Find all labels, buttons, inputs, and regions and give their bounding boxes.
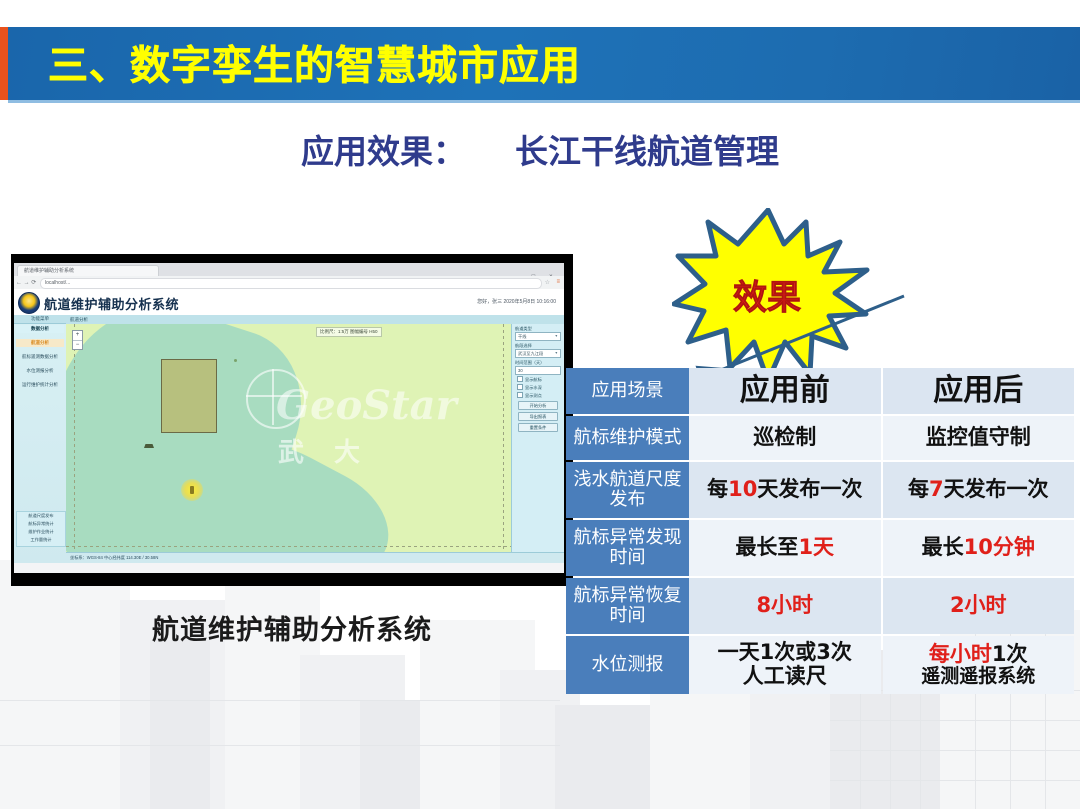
- url-text: localhost/...: [45, 279, 70, 288]
- row-before-4-seg3: 3: [816, 640, 831, 664]
- form-select-segment[interactable]: 武汉至九江段: [515, 349, 561, 358]
- sidebar-subpanel: 航道尺度发布 航标异常统计 维护作业统计 工作量统计: [16, 511, 66, 547]
- row-before-4-line1: 一天1次或3次: [718, 641, 852, 665]
- map-scale-info: 比例尺：1:5万 图幅编号 H50: [316, 327, 382, 337]
- map-canvas[interactable]: GeoStar 武大 比例尺：1:5万 图幅编号 H50 + −: [66, 324, 512, 553]
- app-body: 功能菜单 数据分析 航道分析 航标遥测数据分析 水位测报分析 运行维护统计分析 …: [14, 315, 564, 563]
- row-after-1-seg0: 每: [908, 478, 929, 502]
- subtitle-topic: 长江干线航道管理: [515, 132, 779, 171]
- row-after-4-line2: 遥测遥报系统: [921, 666, 1035, 687]
- row-after-2-seg0: 最长: [922, 536, 964, 560]
- table-header-row: 应用场景 应用前 应用后: [566, 368, 1074, 414]
- form-input-days[interactable]: 30: [515, 366, 561, 375]
- row-before-4-line2: 人工读尺: [718, 665, 852, 689]
- app-logo-icon: [18, 292, 40, 314]
- page-title: 三、数字孪生的智慧城市应用: [48, 33, 581, 91]
- application-screenshot: 航道维护辅助分析系统 – □ × ← → ⟳ localhost/... ☆ ≡…: [12, 255, 572, 585]
- table-row: 航标异常恢复时间 8小时 2小时: [566, 578, 1074, 634]
- table-header-before: 应用前: [689, 368, 881, 414]
- map-graticule-bottom: [66, 546, 512, 547]
- form-check-2[interactable]: 显示测点: [517, 392, 564, 399]
- row-before-4-seg4: 次: [831, 640, 852, 664]
- browser-window: 航道维护辅助分析系统 – □ × ← → ⟳ localhost/... ☆ ≡…: [14, 263, 564, 573]
- row-before-2-seg1: 1天: [798, 536, 834, 560]
- form-button-reset[interactable]: 重置条件: [518, 423, 558, 432]
- form-check-1[interactable]: 显示水深: [517, 384, 564, 391]
- form-button-analyze[interactable]: 开始分析: [518, 401, 558, 410]
- form-select-channel-type[interactable]: 干线: [515, 332, 561, 341]
- map-zoom-control[interactable]: + −: [72, 330, 83, 350]
- row-after-4: 每小时1次 遥测遥报系统: [883, 636, 1075, 694]
- row-after-1-seg1: 7: [929, 478, 944, 502]
- sidebar-item-4[interactable]: 运行维护统计分析: [16, 381, 64, 389]
- map-tab-label[interactable]: 航道分析: [70, 315, 88, 324]
- app-sidebar: 功能菜单 数据分析 航道分析 航标遥测数据分析 水位测报分析 运行维护统计分析 …: [14, 315, 67, 563]
- sidebar-sub-1[interactable]: 航标异常统计: [17, 520, 65, 528]
- app-user-info: 您好，张三 2020年5月8日 10:16:00: [477, 298, 556, 305]
- row-label-0: 航标维护模式: [566, 416, 689, 460]
- form-check-label-0: 显示航标: [525, 377, 542, 382]
- row-after-2: 最长10分钟: [883, 520, 1075, 576]
- subtitle: 应用效果： 长江干线航道管理: [0, 125, 1080, 173]
- map-point-feature: [234, 359, 237, 362]
- checkbox-icon-1[interactable]: [517, 384, 523, 390]
- map-graticule-right: [503, 324, 504, 553]
- form-check-label-1: 显示水深: [525, 385, 542, 390]
- map-graticule-left: [74, 324, 75, 553]
- row-after-2-seg1: 10分钟: [964, 536, 1035, 560]
- row-after-3: 2小时: [883, 578, 1075, 634]
- geostar-globe-watermark-icon: [246, 369, 306, 429]
- row-label-3: 航标异常恢复时间: [566, 578, 689, 634]
- row-before-1: 每10天发布一次: [689, 462, 881, 518]
- row-after-0-seg0: 监控值守制: [926, 426, 1031, 450]
- app-banner: 航道维护辅助分析系统 您好，张三 2020年5月8日 10:16:00: [14, 289, 564, 316]
- browser-url-bar: ← → ⟳ localhost/... ☆ ≡: [14, 276, 564, 290]
- sidebar-item-2[interactable]: 航标遥测数据分析: [16, 353, 64, 361]
- row-before-4-seg0: 一天: [718, 640, 760, 664]
- row-after-0: 监控值守制: [883, 416, 1075, 460]
- map-vessel-icon: [144, 444, 154, 448]
- row-before-4-seg1: 1: [760, 640, 775, 664]
- browser-nav-icons[interactable]: ← → ⟳: [16, 279, 36, 286]
- row-label-4: 水位测报: [566, 636, 689, 694]
- row-before-1-seg0: 每: [707, 478, 728, 502]
- sidebar-sub-3[interactable]: 工作量统计: [17, 536, 65, 544]
- window-controls: – □ ×: [508, 265, 560, 275]
- zoom-in-icon[interactable]: +: [73, 331, 82, 341]
- subtitle-prefix: 应用效果：: [301, 132, 466, 171]
- browser-tab-label: 航道维护辅助分析系统: [24, 267, 144, 274]
- app-status-bar: 坐标系：WGS-84 中心经纬度 114.30E / 30.58N: [66, 552, 564, 563]
- browser-menu-icon[interactable]: ≡: [556, 279, 560, 285]
- sidebar-header: 功能菜单: [14, 315, 66, 324]
- map-marker-highlight[interactable]: [181, 479, 203, 501]
- form-check-0[interactable]: 显示航标: [517, 376, 564, 383]
- form-check-label-2: 显示测点: [525, 393, 542, 398]
- form-button-export[interactable]: 导出报表: [518, 412, 558, 421]
- row-before-0: 巡检制: [689, 416, 881, 460]
- row-before-0-seg0: 巡检制: [753, 426, 816, 450]
- row-before-1-seg1: 10: [728, 478, 757, 502]
- checkbox-icon-0[interactable]: [517, 376, 523, 382]
- row-before-4: 一天1次或3次 人工读尺: [689, 636, 881, 694]
- row-before-3-seg0: 8小时: [756, 594, 813, 618]
- row-before-2-seg0: 最长至: [735, 536, 798, 560]
- table-header-after: 应用后: [883, 368, 1075, 414]
- sidebar-sub-2[interactable]: 维护作业统计: [17, 528, 65, 536]
- sidebar-item-0[interactable]: 数据分析: [16, 325, 64, 333]
- row-before-1-seg2: 天发布一次: [757, 478, 862, 502]
- browser-tab-bar: 航道维护辅助分析系统 – □ ×: [14, 263, 564, 277]
- table-row: 水位测报 一天1次或3次 人工读尺 每小时1次 遥测遥报系统: [566, 636, 1074, 694]
- row-before-4-seg2: 次或: [774, 640, 816, 664]
- row-label-1: 浅水航道尺度发布: [566, 462, 689, 518]
- row-after-4-seg1: 1次: [992, 642, 1028, 666]
- row-before-3: 8小时: [689, 578, 881, 634]
- zoom-out-icon[interactable]: −: [73, 341, 82, 350]
- table-row: 航标维护模式 巡检制 监控值守制: [566, 416, 1074, 460]
- sidebar-item-3[interactable]: 水位测报分析: [16, 367, 64, 375]
- table-row: 航标异常发现时间 最长至1天 最长10分钟: [566, 520, 1074, 576]
- checkbox-icon-2[interactable]: [517, 392, 523, 398]
- row-after-3-seg0: 2小时: [950, 594, 1007, 618]
- row-label-2: 航标异常发现时间: [566, 520, 689, 576]
- url-input[interactable]: localhost/...: [40, 278, 542, 289]
- header-underline: [8, 100, 1080, 103]
- bookmark-star-icon[interactable]: ☆: [545, 279, 550, 286]
- row-after-4-line1: 每小时1次: [921, 643, 1035, 667]
- row-before-2: 最长至1天: [689, 520, 881, 576]
- map-selection-rectangle[interactable]: [161, 359, 217, 433]
- table-row: 浅水航道尺度发布 每10天发布一次 每7天发布一次: [566, 462, 1074, 518]
- row-after-1-seg2: 天发布一次: [944, 478, 1049, 502]
- table-header-scenario: 应用场景: [566, 368, 689, 414]
- sidebar-sub-0[interactable]: 航道尺度发布: [17, 512, 65, 520]
- row-after-4-seg0: 每小时: [929, 642, 992, 666]
- row-after-1: 每7天发布一次: [883, 462, 1075, 518]
- comparison-table: 应用场景 应用前 应用后 航标维护模式 巡检制 监控值守制 浅水航道尺度发布 每…: [566, 368, 1074, 701]
- screenshot-caption: 航道维护辅助分析系统: [12, 608, 572, 647]
- analysis-form-panel: 航道类型 干线 航段选择 武汉至九江段 时间范围（天） 30 显示航标 显示水深…: [511, 324, 564, 553]
- sidebar-item-1[interactable]: 航道分析: [16, 339, 64, 347]
- app-title: 航道维护辅助分析系统: [44, 294, 179, 313]
